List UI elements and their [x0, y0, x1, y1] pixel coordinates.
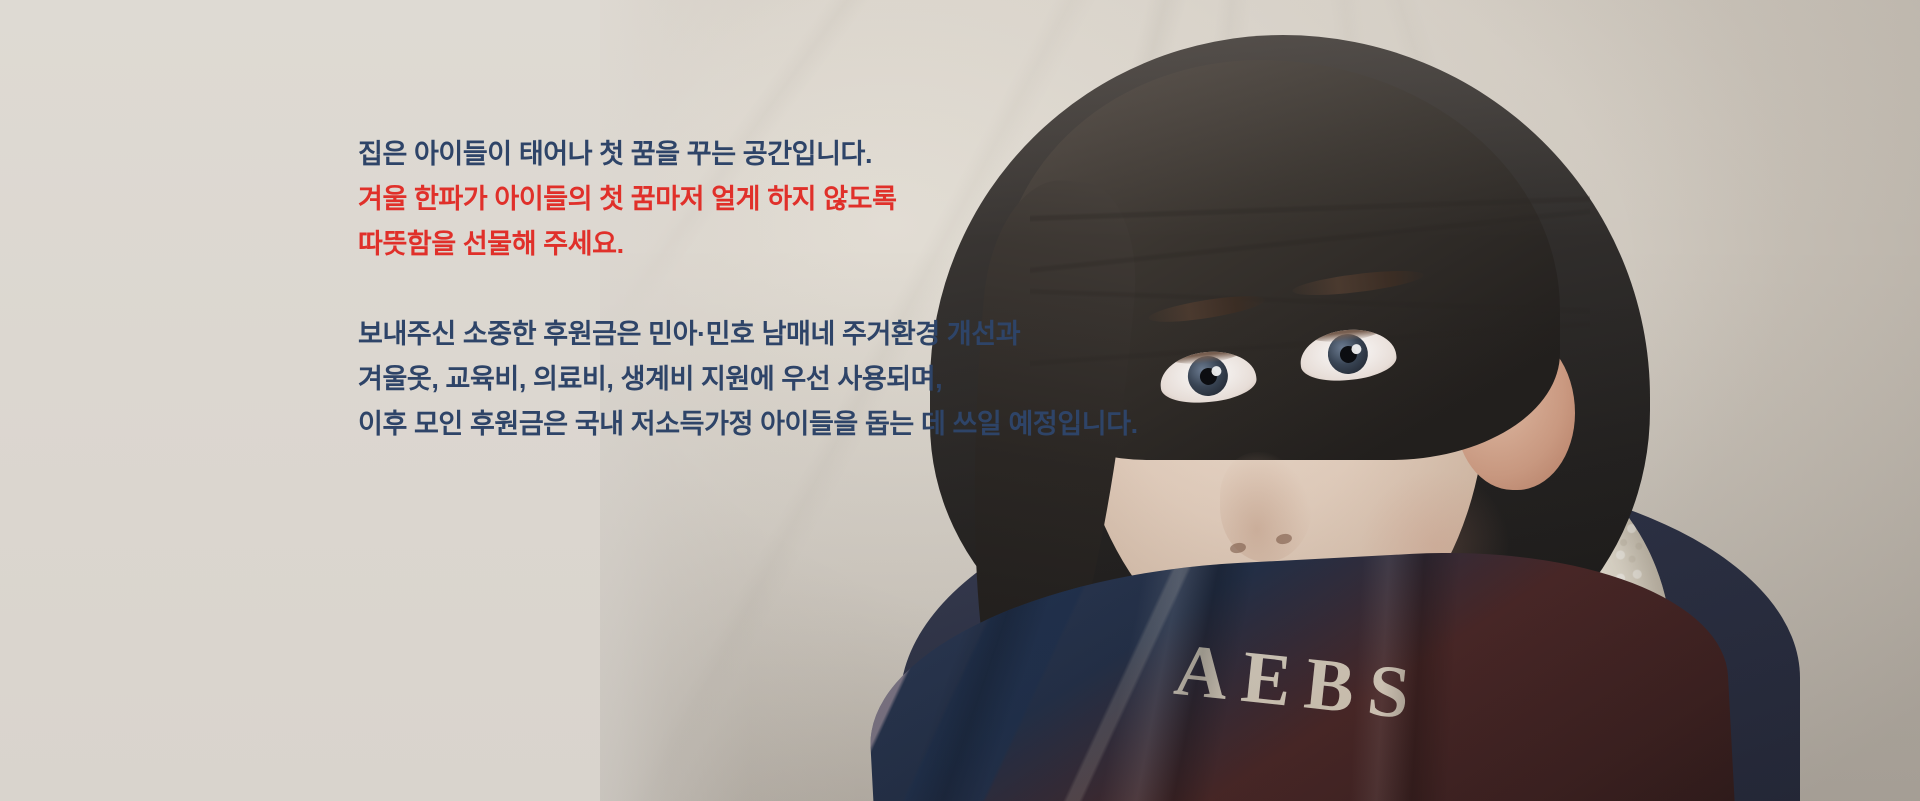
patterned-blanket: AEBS [862, 538, 1738, 801]
body-line-1: 보내주신 소중한 후원금은 민아·민호 남매네 주거환경 개선과 [358, 312, 1278, 357]
paragraph-spacer [358, 267, 1278, 312]
blanket-folds [862, 538, 1738, 801]
headline-line-2: 겨울 한파가 아이들의 첫 꿈마저 얼게 하지 않도록 [358, 177, 1278, 222]
headline-line-3: 따뜻함을 선물해 주세요. [358, 222, 1278, 267]
donation-campaign-banner: AEBS 집은 아이들이 태어나 첫 꿈을 꾸는 공간입니다. 겨울 한파가 아… [0, 0, 1920, 801]
banner-copy-block: 집은 아이들이 태어나 첫 꿈을 꾸는 공간입니다. 겨울 한파가 아이들의 첫… [358, 132, 1278, 447]
body-line-3: 이후 모인 후원금은 국내 저소득가정 아이들을 돕는 데 쓰일 예정입니다. [358, 402, 1278, 447]
body-line-2: 겨울옷, 교육비, 의료비, 생계비 지원에 우선 사용되며, [358, 357, 1278, 402]
headline-line-1: 집은 아이들이 태어나 첫 꿈을 꾸는 공간입니다. [358, 132, 1278, 177]
